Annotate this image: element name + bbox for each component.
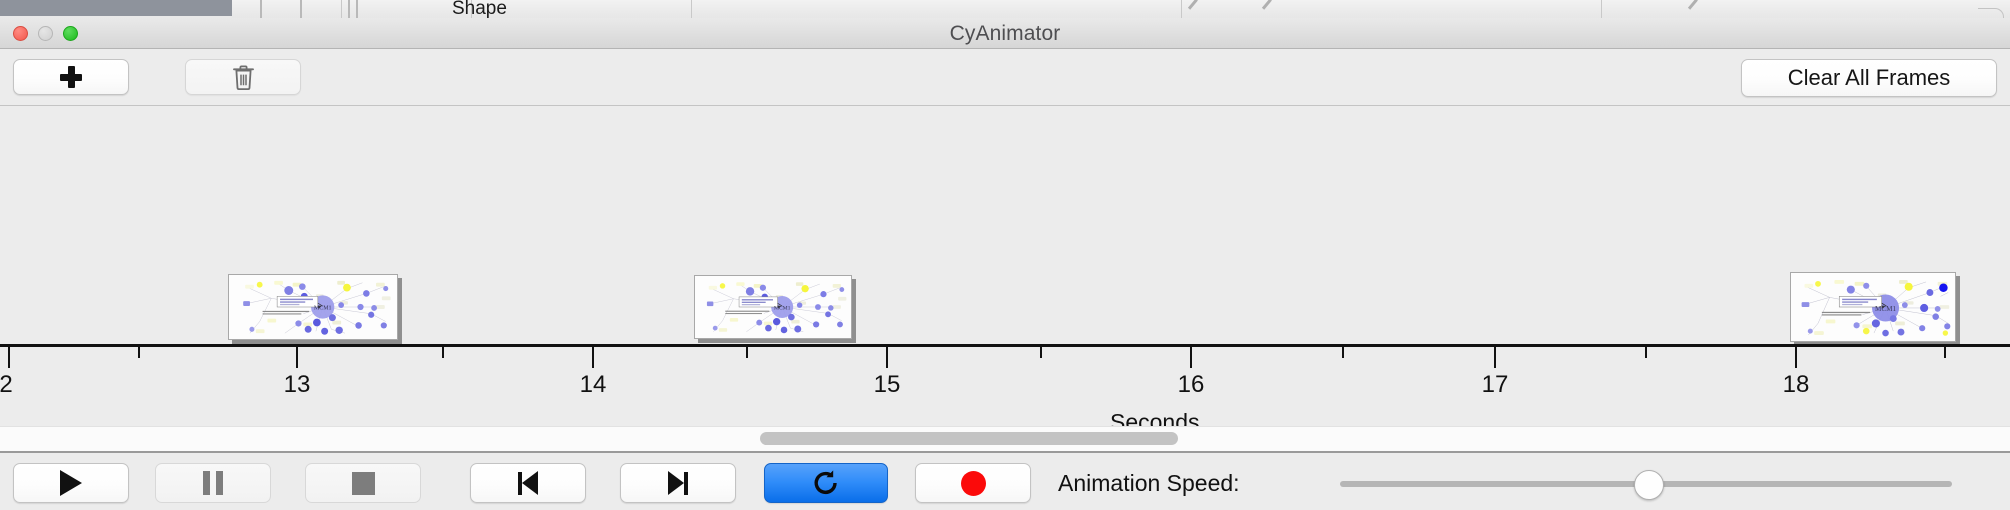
axis-tick-major <box>8 347 10 368</box>
axis-tick-label: 15 <box>857 371 917 399</box>
clear-all-frames-button[interactable]: Clear All Frames <box>1741 59 1997 97</box>
timeline-panel[interactable]: MCM1 <box>0 106 2010 426</box>
timeline-scrollbar[interactable] <box>0 426 2010 453</box>
thumbnail-image: MCM1 <box>228 274 398 340</box>
axis-tick-major <box>1190 347 1192 368</box>
stop-icon <box>352 472 375 495</box>
network-graph: MCM1 <box>695 276 851 338</box>
hub-node-label: MCM1 <box>314 306 332 312</box>
axis-tick-label: 13 <box>267 371 327 399</box>
play-button[interactable] <box>13 463 129 503</box>
frame-thumbnail[interactable]: MCM1 <box>1790 272 1956 342</box>
axis-tick-minor <box>1342 347 1344 358</box>
trash-icon <box>233 65 254 90</box>
skip-to-start-button[interactable] <box>470 463 586 503</box>
axis-tick-major <box>592 347 594 368</box>
background-dark-titlebar <box>0 0 232 16</box>
axis-tick-label: 16 <box>1161 371 1221 399</box>
network-graph: MCM1 <box>1791 273 1955 341</box>
axis-tick-minor <box>1040 347 1042 358</box>
loop-icon <box>812 469 840 497</box>
screen: Shape CyAnimator <box>0 0 2010 510</box>
axis-tick-minor <box>1944 347 1946 358</box>
add-frame-button[interactable] <box>13 59 129 95</box>
background-window-label: Shape <box>452 0 507 20</box>
animation-speed-slider-thumb[interactable] <box>1634 470 1664 500</box>
network-graph: MCM1 <box>229 275 397 339</box>
window-titlebar[interactable]: CyAnimator <box>0 18 2010 49</box>
axis-tick-label: 14 <box>563 371 623 399</box>
axis-tick-major <box>886 347 888 368</box>
axis-tick-label: 2 <box>0 371 36 399</box>
axis-tick-minor <box>442 347 444 358</box>
axis-tick-minor <box>138 347 140 358</box>
play-icon <box>60 470 82 496</box>
window-title: CyAnimator <box>0 22 2010 46</box>
pause-button[interactable] <box>155 463 271 503</box>
frame-toolbar: Clear All Frames <box>0 49 2010 106</box>
skip-to-end-button[interactable] <box>620 463 736 503</box>
axis-tick-label: 18 <box>1766 371 1826 399</box>
timeline-axis <box>0 344 2010 347</box>
axis-tick-major <box>1795 347 1797 368</box>
stop-button[interactable] <box>305 463 421 503</box>
hub-node-label: MCM1 <box>1875 305 1896 313</box>
record-icon <box>961 471 986 496</box>
animation-speed-label: Animation Speed: <box>1058 470 1240 497</box>
delete-frame-button[interactable] <box>185 59 301 95</box>
axis-tick-minor <box>1645 347 1647 358</box>
skip-back-icon <box>518 471 538 495</box>
axis-tick-label: 17 <box>1465 371 1525 399</box>
pause-icon <box>203 471 223 495</box>
hub-node-label: MCM1 <box>774 305 791 311</box>
axis-tick-major <box>296 347 298 368</box>
thumbnail-image: MCM1 <box>694 275 852 339</box>
plus-icon <box>60 66 82 88</box>
cyanimator-window: CyAnimator Clear All Frames <box>0 18 2010 510</box>
loop-button[interactable] <box>764 463 888 503</box>
thumbnail-image: MCM1 <box>1790 272 1956 342</box>
record-button[interactable] <box>915 463 1031 503</box>
axis-tick-major <box>1494 347 1496 368</box>
frame-thumbnail[interactable]: MCM1 <box>228 274 398 340</box>
scrollbar-thumb[interactable] <box>760 432 1178 445</box>
playback-controls: Animation Speed: <box>0 453 2010 510</box>
axis-title: Seconds <box>1110 409 1200 426</box>
axis-tick-minor <box>746 347 748 358</box>
skip-forward-icon <box>668 471 688 495</box>
frame-thumbnail[interactable]: MCM1 <box>694 275 852 339</box>
